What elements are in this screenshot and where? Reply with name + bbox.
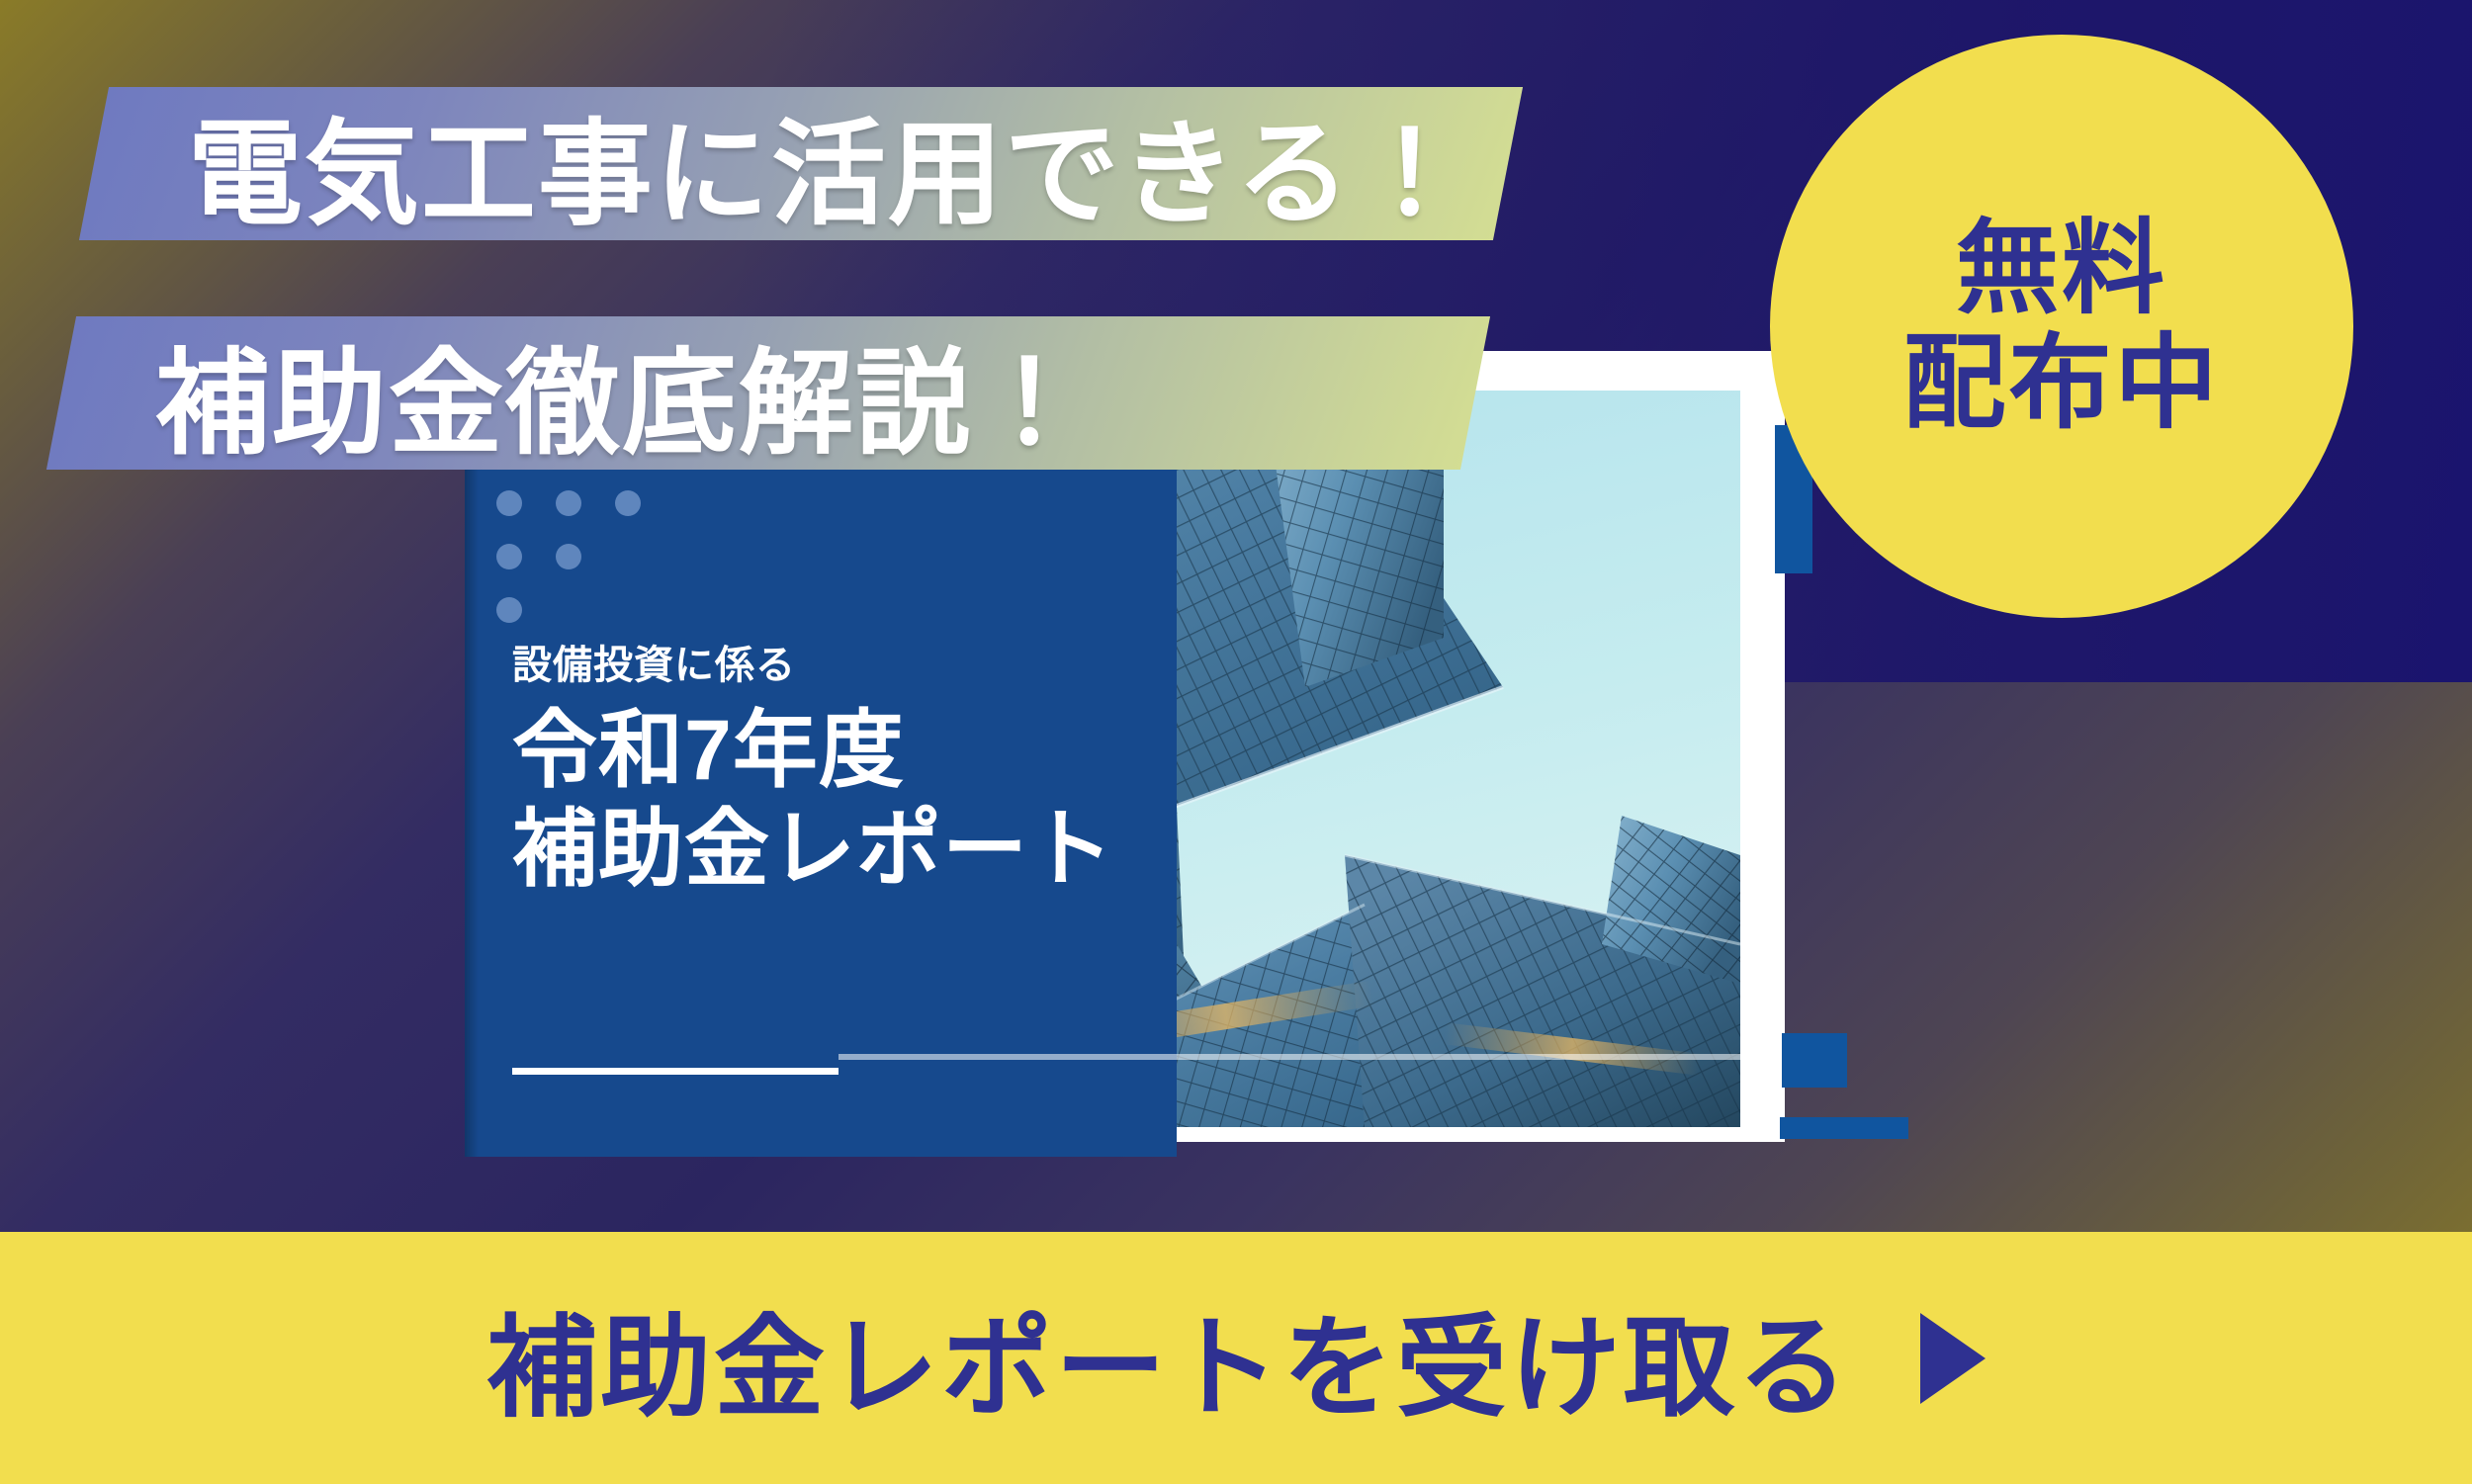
cover-title-line-1: 令和7年度 <box>512 702 1167 801</box>
accent-square-bottom <box>1782 1033 1847 1088</box>
cover-rule <box>512 1068 839 1075</box>
headline-line-1: 電気工事に活用できる！ <box>188 81 1469 247</box>
cover-title-line-2: 補助金レポート <box>512 801 1167 900</box>
report-cover-card: 設備投資に係る 令和7年度 補助金レポート <box>465 366 1177 1157</box>
play-triangle-right-icon <box>1920 1313 1986 1404</box>
cover-eyebrow: 設備投資に係る <box>512 633 1167 690</box>
cover-rule-extension <box>839 1054 1768 1060</box>
accent-line-bottom <box>1780 1117 1908 1139</box>
cta-button[interactable]: 補助金レポートを受け取る <box>0 1232 2472 1484</box>
badge-line-2: 配布中 <box>1902 326 2220 441</box>
cta-label: 補助金レポートを受け取る <box>486 1278 1851 1439</box>
promo-banner: 無料 配布中 <box>0 0 2472 1484</box>
badge-line-1: 無料 <box>1956 212 2167 326</box>
free-distribution-badge: 無料 配布中 <box>1770 35 2353 618</box>
headline-line-2: 補助金徹底解説！ <box>155 310 1089 477</box>
report-cover-text: 設備投資に係る 令和7年度 補助金レポート <box>512 633 1167 900</box>
headline-band-1: 電気工事に活用できる！ <box>79 87 1523 240</box>
headline-band-2: 補助金徹底解説！ <box>46 316 1490 470</box>
